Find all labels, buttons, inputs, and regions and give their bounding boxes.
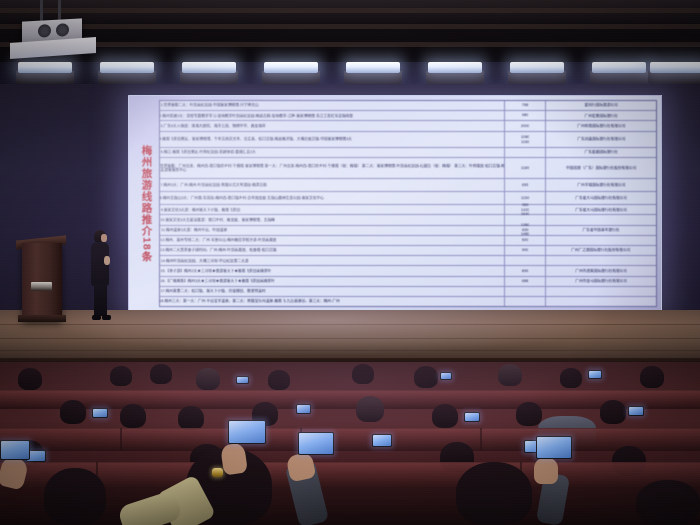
table-row: 7.梅州3天：广州-梅州-叶剑英纪念园-熊猫公式大夸游园-梅潭古韵 655 广州… [160, 179, 656, 192]
price-text: 1180 [521, 166, 529, 171]
cell-route: 17.梅州美食二天：松口镇、客天下小镇、玲珑梯田、慈里特溪村 [160, 287, 505, 296]
audience-head [356, 396, 384, 422]
cell-price: 1380 630 1480 [505, 226, 546, 235]
audience-seating [0, 362, 700, 525]
audience-phone [296, 404, 311, 414]
audience-head [612, 446, 646, 476]
audience-phone [440, 372, 452, 380]
cell-agency: 广州市金马国际旅行社有限公司 [546, 277, 656, 286]
route-text: 2.梅州党建2天：党校专题教学学习-现场教学叶剑英纪念园-梅县古韵-现场教学-江… [160, 113, 353, 118]
audience-phone [228, 420, 266, 444]
cell-price: 688 [505, 277, 546, 286]
presenter-legs [94, 284, 107, 316]
table-row: 14.梅州叶剑英纪念园、大埔三河坝-中山纪念堂二天游 [160, 256, 656, 266]
audience-hand [220, 442, 248, 475]
table-row: 3.广东6天入境团：珠海大剧院、海洋王国、锦绣中华、黄金海岸 2000 广州岭南… [160, 121, 656, 131]
audience-head [414, 366, 438, 388]
cell-route: 6.世界客都、广州出发、梅州西-南口镇侨乡村-千佛塔-客家博物馆 第一天：广州出… [160, 158, 505, 178]
cell-price [505, 297, 546, 306]
audience-head [352, 364, 374, 384]
route-text: 5.梅江-雁南飞茶田景区-叶帅纪念园-农耕体验-整理汇总2天 [161, 150, 256, 155]
route-text: 3.广东6天入境团：珠海大剧院、海洋王国、锦绣中华、黄金海岸 [160, 124, 265, 129]
audience-phone [92, 408, 108, 418]
cell-agency: 爱同行国际旅游公司 [546, 101, 656, 110]
cell-route: 11.梅州温泉3天游：梅州平远、叶园温泉 [160, 226, 505, 235]
price-text: 950 1420 1640 [521, 203, 530, 218]
cell-agency: 广州广之旅国际旅行社股份有限公司 [546, 246, 656, 255]
table-row: 9.客家文化3天游：梅州客天下小镇、雁南飞茶田 950 1420 1640 广东… [160, 205, 656, 215]
cell-route: 4.雁南飞茶田景区、客家博物馆、千年古刹灵光寺、百丈斋、松口古镇-梅县雁洋镇、大… [160, 132, 505, 148]
price-text: 2000 [521, 123, 530, 128]
audience-head [560, 368, 582, 388]
agency-text: 爱同行国际旅游公司 [584, 103, 617, 108]
presenter-hand [104, 256, 110, 265]
audience-head [636, 480, 700, 525]
audience-head [640, 366, 664, 388]
audience-head [18, 368, 42, 390]
cell-price: 980 [505, 111, 546, 120]
audience-arm [285, 459, 329, 525]
cell-agency: 广东省中国青年旅行社 [546, 226, 656, 235]
audience-shoulder [538, 416, 596, 446]
route-text: 6.世界客都、广州出发、梅州西-南口镇侨乡村-千佛塔-客家博物馆 第一天：广州出… [160, 164, 505, 173]
audience-head [190, 444, 224, 474]
agency-text: 广州羊城国际旅行社有限公司 [577, 183, 625, 188]
route-text: 8.梅州五指山3天：广州南-东莞站-梅州西-南口镇乡村-百年围龙屋-五指山森林生… [160, 196, 324, 201]
route-text: 9.客家文化3天游：梅州客天下小镇、雁南飞茶田 [161, 208, 240, 213]
route-text: 16.【广梅高铁】梅州3天★三河坝★夜游客天下★雁南飞茶园采摘茶叶 [160, 279, 275, 284]
audience-sleeve [117, 489, 183, 525]
audience-head [44, 468, 106, 525]
route-text: 7.梅州3天：广州-梅州-叶剑英纪念园-熊猫公式大夸游园-梅潭古韵 [160, 183, 266, 188]
cell-price: 899 [505, 266, 546, 275]
podium-plaque [31, 282, 52, 291]
agency-text: 广州岭南国际旅行社有限公司 [577, 124, 625, 129]
table-row: 1.世界客都二天：叶剑英纪念园-中国客家博物馆-兴宁神光山 768 爱同行国际旅… [160, 101, 656, 111]
audience-phone [524, 440, 546, 453]
stage-light-bar [0, 58, 700, 84]
cell-price: 500 [505, 236, 546, 245]
cell-agency [546, 287, 656, 296]
route-text: 13.梅州二天赏茶香子球时间，广州-梅州-叶剑英故居、松香塔-松口古镇 [160, 248, 276, 253]
audience-head [600, 400, 626, 424]
projection-screen: 梅州旅游线路推介18条 1.世界客都二天：叶剑英纪念园-中国客家博物馆-兴宁神光… [128, 95, 662, 312]
cell-route: 7.梅州3天：广州-梅州-叶剑英纪念园-熊猫公式大夸游园-梅潭古韵 [160, 179, 505, 191]
cell-price [505, 148, 546, 157]
audience-phone [372, 434, 392, 447]
agency-text: 广州宏景国际旅行社 [584, 113, 617, 118]
price-text: 900 [522, 248, 529, 253]
audience-head [516, 402, 542, 426]
audience-phone [0, 440, 30, 460]
agency-text: 广州市途美国际旅行社有限公司 [575, 269, 627, 274]
cell-route: 13.梅州二天赏茶香子球时间，广州-梅州-叶剑英故居、松香塔-松口古镇 [160, 246, 505, 255]
slide-vertical-title: 梅州旅游线路推介18条 [133, 100, 159, 307]
price-text: 655 [522, 183, 529, 188]
audience-head [178, 406, 204, 430]
route-text: 1.世界客都二天：叶剑英纪念园-中国客家博物馆-兴宁神光山 [161, 103, 259, 108]
agency-text: 广东省大马国际旅行社有限公司 [575, 208, 627, 213]
cell-agency [546, 215, 656, 224]
price-text: 1150 [521, 196, 529, 201]
cell-agency [546, 256, 656, 265]
route-text: 11.梅州温泉3天游：梅州平远、叶园温泉 [161, 228, 227, 233]
price-text: 688 [522, 279, 529, 284]
audience-head [456, 462, 532, 525]
table-row: 6.世界客都、广州出发、梅州西-南口镇侨乡村-千佛塔-客家博物馆 第一天：广州出… [160, 158, 656, 179]
cell-agency [546, 236, 656, 245]
table-row: 4.雁南飞茶田景区、客家博物馆、千年古刹灵光寺、百丈斋、松口古镇-梅县雁洋镇、大… [160, 132, 656, 149]
cell-price: 950 1420 1640 [505, 205, 546, 214]
seat-row [0, 462, 700, 489]
audience-head [432, 404, 458, 428]
audience-head [498, 364, 522, 386]
presentation-slide: 梅州旅游线路推介18条 1.世界客都二天：叶剑英纪念园-中国客家博物馆-兴宁神光… [133, 100, 657, 307]
price-text: 500 [522, 238, 529, 243]
table-row: 5.梅江-雁南飞茶田景区-叶帅纪念园-农耕体验-整理汇总2天 广东星越国际旅行社 [160, 148, 656, 158]
audience-hand [286, 452, 317, 483]
agency-text: 广东凤凰国际旅行社有限公司 [577, 137, 625, 142]
audience-head [60, 400, 86, 424]
table-row: 8.梅州五指山3天：广州南-东莞站-梅州西-南口镇乡村-百年围龙屋-五指山森林生… [160, 192, 656, 205]
presenter-face [101, 234, 107, 242]
table-row: 16.【广梅高铁】梅州3天★三河坝★夜游客天下★雁南飞茶园采摘茶叶 688 广州… [160, 277, 656, 287]
agency-text: 中国国旅（广东）国际旅行社股份有限公司 [566, 166, 636, 171]
audience-phone [588, 370, 602, 379]
presenter-shoe [92, 315, 101, 320]
ceiling [0, 0, 700, 62]
agency-text: 广州市金马国际旅行社有限公司 [575, 279, 627, 284]
cell-agency: 广东星越国际旅行社 [546, 148, 656, 157]
cell-price: 655 [505, 179, 546, 191]
cell-price: 2000 [505, 121, 546, 130]
auditorium-photo: 梅州旅游线路推介18条 1.世界客都二天：叶剑英纪念园-中国客家博物馆-兴宁神光… [0, 0, 700, 525]
audience-arm-foreground [156, 474, 216, 525]
cell-agency: 广州市途美国际旅行社有限公司 [546, 266, 656, 275]
cell-route: 9.客家文化3天游：梅州客天下小镇、雁南飞茶田 [160, 205, 505, 214]
cell-route: 14.梅州叶剑英纪念园、大埔三河坝-中山纪念堂二天游 [160, 256, 505, 265]
price-text: 768 [522, 103, 529, 108]
table-row: 11.梅州温泉3天游：梅州平远、叶园温泉 1380 630 1480 广东省中国… [160, 226, 656, 236]
audience-head [110, 366, 132, 386]
price-text: 899 [522, 268, 529, 273]
route-table: 1.世界客都二天：叶剑英纪念园-中国客家博物馆-兴宁神光山 768 爱同行国际旅… [159, 100, 657, 307]
route-text: 14.梅州叶剑英纪念园、大埔三河坝-中山纪念堂二天游 [161, 258, 249, 263]
cell-route: 16.【广梅高铁】梅州3天★三河坝★夜游客天下★雁南飞茶园采摘茶叶 [160, 277, 505, 286]
agency-text: 广东星越国际旅行社 [584, 150, 617, 155]
cell-route: 10.客家文化3天五星深度游：南口乡村、雁龙屋、客家博物馆、五指峰 [160, 215, 505, 224]
table-row: 13.梅州二天赏茶香子球时间，广州-梅州-叶剑英故居、松香塔-松口古镇 900 … [160, 246, 656, 256]
cell-agency [546, 297, 656, 306]
audience-head [12, 440, 44, 468]
cell-price [505, 256, 546, 265]
table-row: 2.梅州党建2天：党校专题教学学习-现场教学叶剑英纪念园-梅县古韵-现场教学-江… [160, 111, 656, 121]
audience-phone [26, 450, 46, 462]
route-text: 10.客家文化3天五星深度游：南口乡村、雁龙屋、客家博物馆、五指峰 [160, 218, 275, 223]
agency-text: 广东省大马国际旅行社有限公司 [575, 196, 627, 201]
audience-hand [534, 458, 558, 484]
cell-route: 3.广东6天入境团：珠海大剧院、海洋王国、锦绣中华、黄金海岸 [160, 121, 505, 130]
table-row: 12.梅州、惠州专线二天：广州-军营公山-梅州雁应学校开讲-叶剑英故居 500 [160, 236, 656, 246]
cell-route: 8.梅州五指山3天：广州南-东莞站-梅州西-南口镇乡村-百年围龙屋-五指山森林生… [160, 192, 505, 204]
cell-agency: 广州岭南国际旅行社有限公司 [546, 121, 656, 130]
audience-phone [628, 406, 644, 416]
cell-route: 15.【亲子游】梅州2天★三河坝★夜游客天下★雁南飞茶田采摘茶叶 [160, 266, 505, 275]
audience-head [252, 402, 278, 426]
cell-price: 1180 [505, 158, 546, 178]
table-row: 17.梅州美食二天：松口镇、客天下小镇、玲珑梯田、慈里特溪村 [160, 287, 656, 297]
projector-rod [40, 0, 43, 22]
route-text: 15.【亲子游】梅州2天★三河坝★夜游客天下★雁南飞茶田采摘茶叶 [160, 269, 271, 274]
cell-agency: 中国国旅（广东）国际旅行社股份有限公司 [546, 158, 656, 178]
presenter-shoe [102, 315, 111, 320]
audience-phone [236, 376, 249, 384]
audience-head [120, 404, 146, 428]
agency-text: 广东省中国青年旅行社 [582, 228, 619, 233]
audience-phone [536, 436, 572, 459]
price-text: 980 [522, 113, 529, 118]
cell-agency: 广东凤凰国际旅行社有限公司 [546, 132, 656, 148]
podium-base [18, 315, 66, 322]
slide-title-text: 梅州旅游线路推介18条 [140, 145, 151, 262]
audience-head [150, 364, 172, 384]
audience-head [440, 442, 474, 472]
cell-agency: 广东省大马国际旅行社有限公司 [546, 205, 656, 214]
route-text: 18.梅州三天：第一天：广州-平远宝丰温泉，第二天：熊猫宝乐玛温泉-雁南飞-九丘… [160, 299, 340, 304]
audience-phone [298, 432, 334, 455]
cell-route: 2.梅州党建2天：党校专题教学学习-现场教学叶剑英纪念园-梅县古韵-现场教学-江… [160, 111, 505, 120]
cell-route: 12.梅州、惠州专线二天：广州-军营公山-梅州雁应学校开讲-叶剑英故居 [160, 236, 505, 245]
cell-agency: 广州羊城国际旅行社有限公司 [546, 179, 656, 191]
route-text: 12.梅州、惠州专线二天：广州-军营公山-梅州雁应学校开讲-叶剑英故居 [160, 238, 276, 243]
cell-agency: 广东省大马国际旅行社有限公司 [546, 192, 656, 204]
cell-route: 18.梅州三天：第一天：广州-平远宝丰温泉，第二天：熊猫宝乐玛温泉-雁南飞-九丘… [160, 297, 505, 306]
audience-phone [464, 412, 480, 422]
cell-route: 5.梅江-雁南飞茶田景区-叶帅纪念园-农耕体验-整理汇总2天 [160, 148, 505, 157]
table-row: 15.【亲子游】梅州2天★三河坝★夜游客天下★雁南飞茶田采摘茶叶 899 广州市… [160, 266, 656, 276]
cell-price [505, 287, 546, 296]
seat-row [0, 428, 700, 451]
gold-wristwatch [212, 468, 223, 477]
route-text: 4.雁南飞茶田景区、客家博物馆、千年古刹灵光寺、百丈斋、松口古镇-梅县雁洋镇、大… [160, 137, 352, 142]
route-text: 17.梅州美食二天：松口镇、客天下小镇、玲珑梯田、慈里特溪村 [160, 289, 265, 294]
audience-head [196, 368, 220, 390]
audience-hand [0, 455, 29, 490]
cell-price: 1080 1160 [505, 132, 546, 148]
cell-route: 1.世界客都二天：叶剑英纪念园-中国客家博物馆-兴宁神光山 [160, 101, 505, 110]
table-row: 18.梅州三天：第一天：广州-平远宝丰温泉，第二天：熊猫宝乐玛温泉-雁南飞-九丘… [160, 297, 656, 306]
seat-row [0, 390, 700, 409]
audience-head [186, 448, 272, 525]
cell-price: 768 [505, 101, 546, 110]
cell-price: 900 [505, 246, 546, 255]
table-row: 10.客家文化3天五星深度游：南口乡村、雁龙屋、客家博物馆、五指峰 [160, 215, 656, 225]
presenter [88, 230, 112, 322]
cell-agency: 广州宏景国际旅行社 [546, 111, 656, 120]
audience-arm [536, 472, 570, 525]
audience-head [268, 370, 290, 390]
price-text: 1380 630 1480 [521, 223, 530, 238]
agency-text: 广州广之旅国际旅行社股份有限公司 [571, 248, 630, 253]
price-text: 1080 1160 [521, 134, 530, 144]
